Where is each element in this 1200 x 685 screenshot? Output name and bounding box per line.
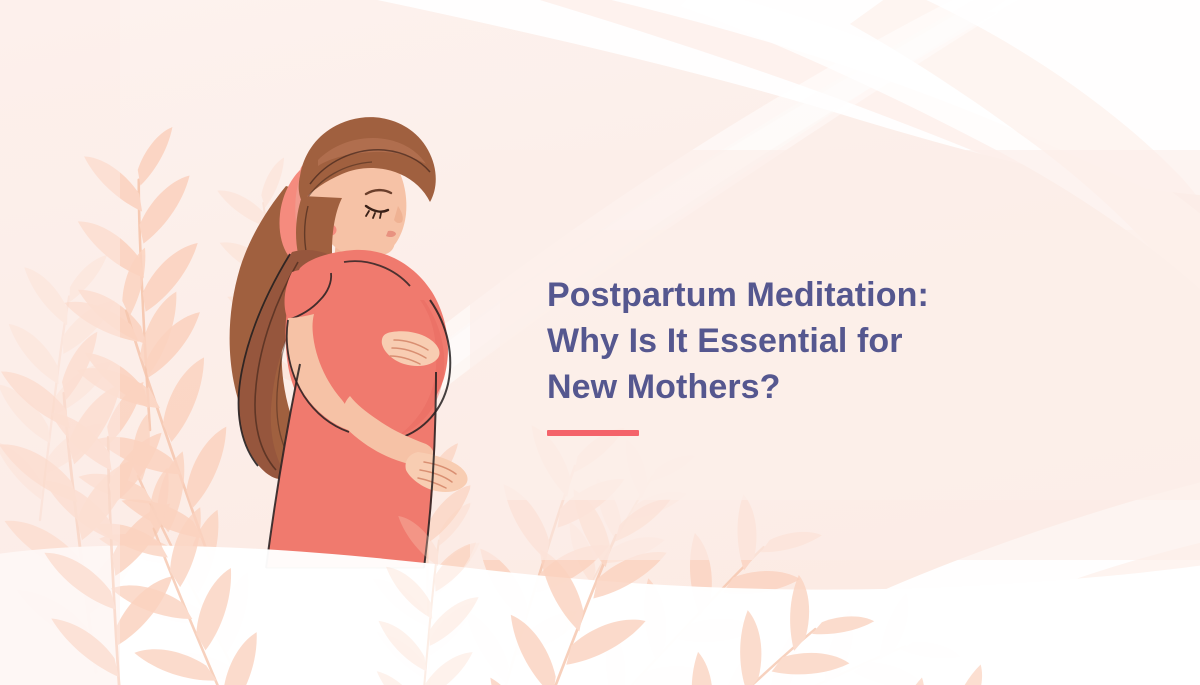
- accent-rule: [547, 430, 639, 436]
- hero-banner: Postpartum Meditation: Why Is It Essenti…: [0, 0, 1200, 685]
- headline-block: Postpartum Meditation: Why Is It Essenti…: [547, 272, 1017, 436]
- headline-line-2: Why Is It Essential for: [547, 318, 1017, 364]
- left-haze: [0, 0, 120, 685]
- headline-line-3: New Mothers?: [547, 364, 1017, 410]
- headline-line-1: Postpartum Meditation:: [547, 272, 1017, 318]
- eyelash-3: [380, 213, 381, 218]
